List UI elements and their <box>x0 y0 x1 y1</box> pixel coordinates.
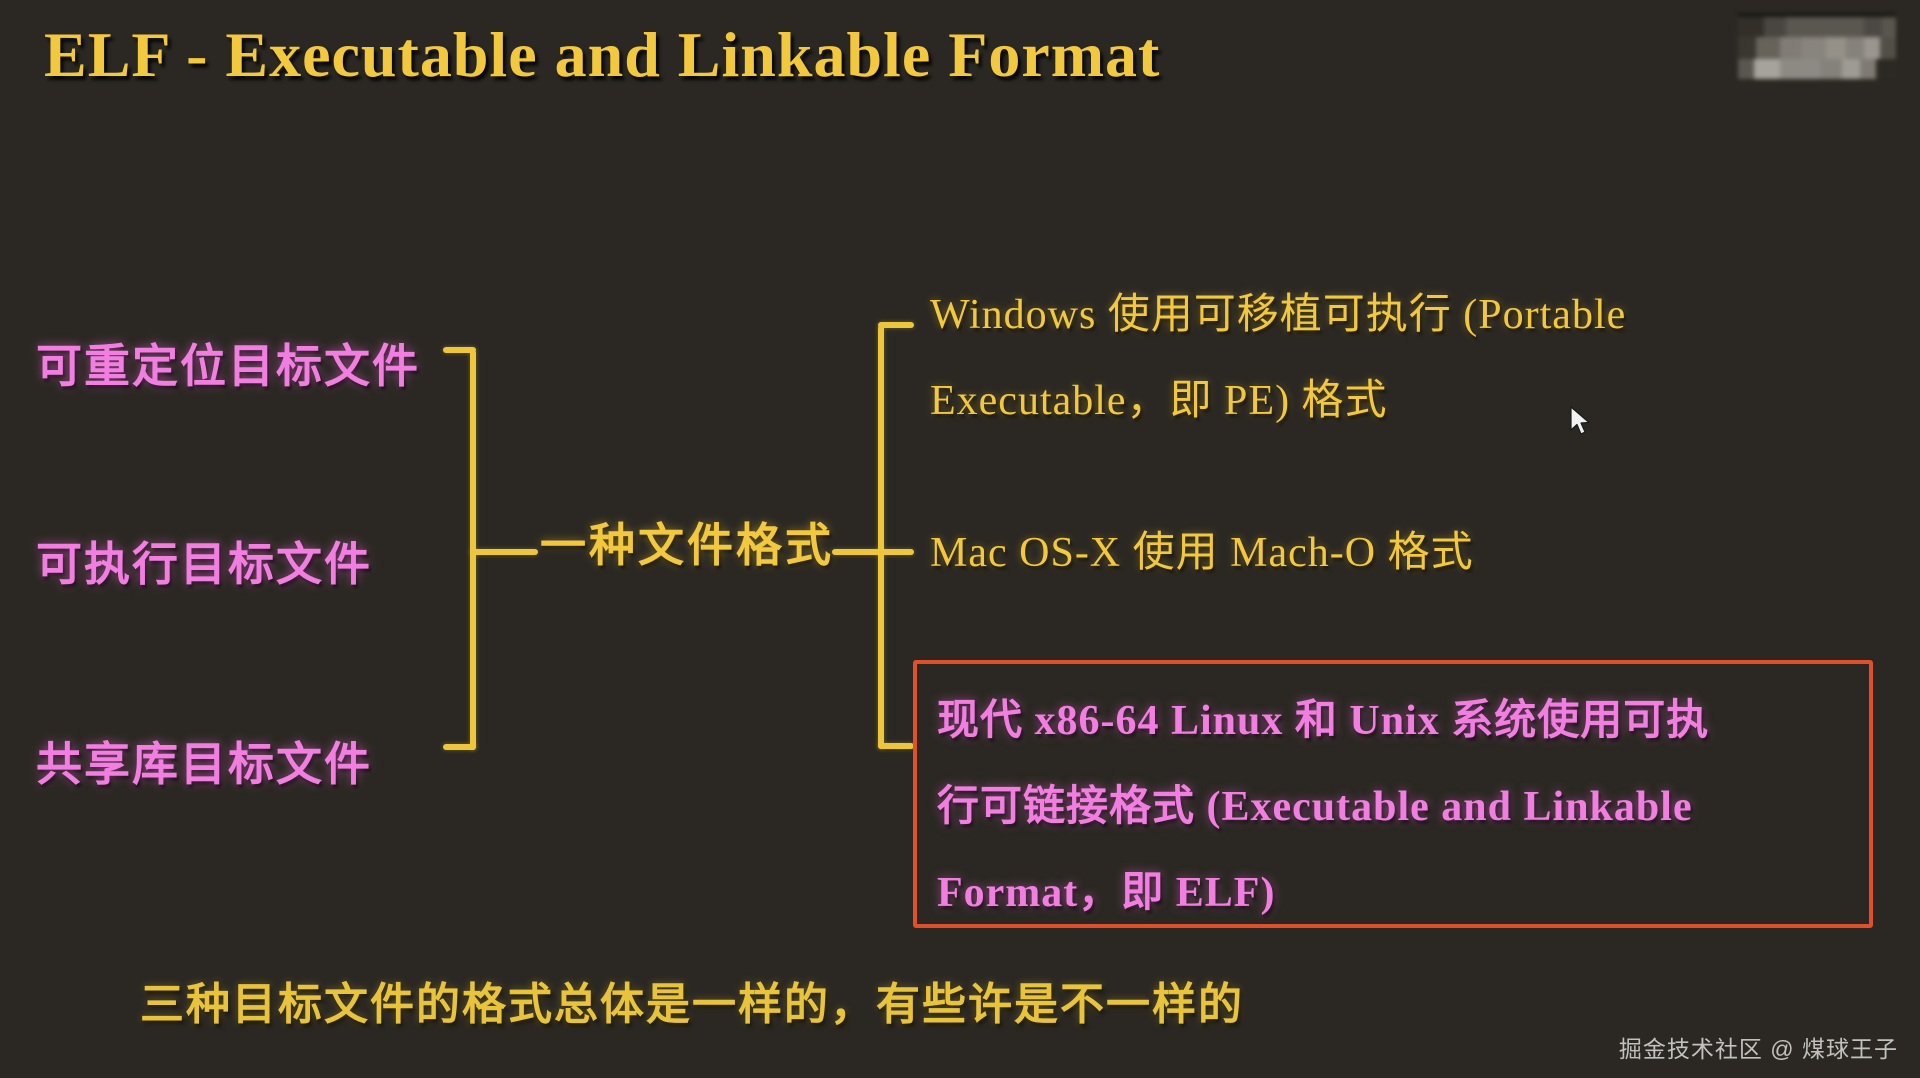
node-macosx-macho-line-1: Mac OS-X 使用 Mach-O 格式 <box>930 510 1830 596</box>
node-file-format: 一种文件格式 <box>540 509 834 575</box>
node-windows-pe-format: Windows 使用可移植可执行 (Portable Executable，即 … <box>930 272 1830 444</box>
page-title: ELF - Executable and Linkable Format <box>44 18 1160 92</box>
left-bracket-top-stub <box>443 347 476 353</box>
blurred-mosaic-badge <box>1738 13 1896 71</box>
left-bracket-center-stub <box>470 549 538 555</box>
node-windows-pe-line-2: Executable，即 PE) 格式 <box>930 358 1830 444</box>
node-elf-line-3: Format，即 ELF) <box>937 850 1867 936</box>
node-macosx-macho-format: Mac OS-X 使用 Mach-O 格式 <box>930 510 1830 596</box>
right-bracket-center-stub <box>832 549 882 555</box>
right-bracket-middle-stub <box>878 549 914 555</box>
right-bracket-spine <box>878 325 884 749</box>
node-relocatable-object-file: 可重定位目标文件 <box>36 330 420 396</box>
left-bracket-bottom-stub <box>443 744 476 750</box>
right-bracket-top-stub <box>878 322 914 328</box>
node-elf-line-1: 现代 x86-64 Linux 和 Unix 系统使用可执 <box>937 678 1867 764</box>
slide-canvas: ELF - Executable and Linkable Format 可重定… <box>0 0 1920 1078</box>
node-elf-line-2: 行可链接格式 (Executable and Linkable <box>937 764 1867 850</box>
node-shared-library-object-file: 共享库目标文件 <box>36 728 372 794</box>
summary-note: 三种目标文件的格式总体是一样的，有些许是不一样的 <box>140 968 1244 1032</box>
node-elf-format-text: 现代 x86-64 Linux 和 Unix 系统使用可执 行可链接格式 (Ex… <box>937 678 1867 936</box>
node-executable-object-file: 可执行目标文件 <box>36 528 372 594</box>
node-windows-pe-line-1: Windows 使用可移植可执行 (Portable <box>930 272 1830 358</box>
highlight-box-elf: 现代 x86-64 Linux 和 Unix 系统使用可执 行可链接格式 (Ex… <box>913 660 1873 928</box>
watermark-text: 掘金技术社区 @ 煤球王子 <box>1619 1030 1898 1064</box>
right-bracket-bottom-stub <box>878 743 914 749</box>
